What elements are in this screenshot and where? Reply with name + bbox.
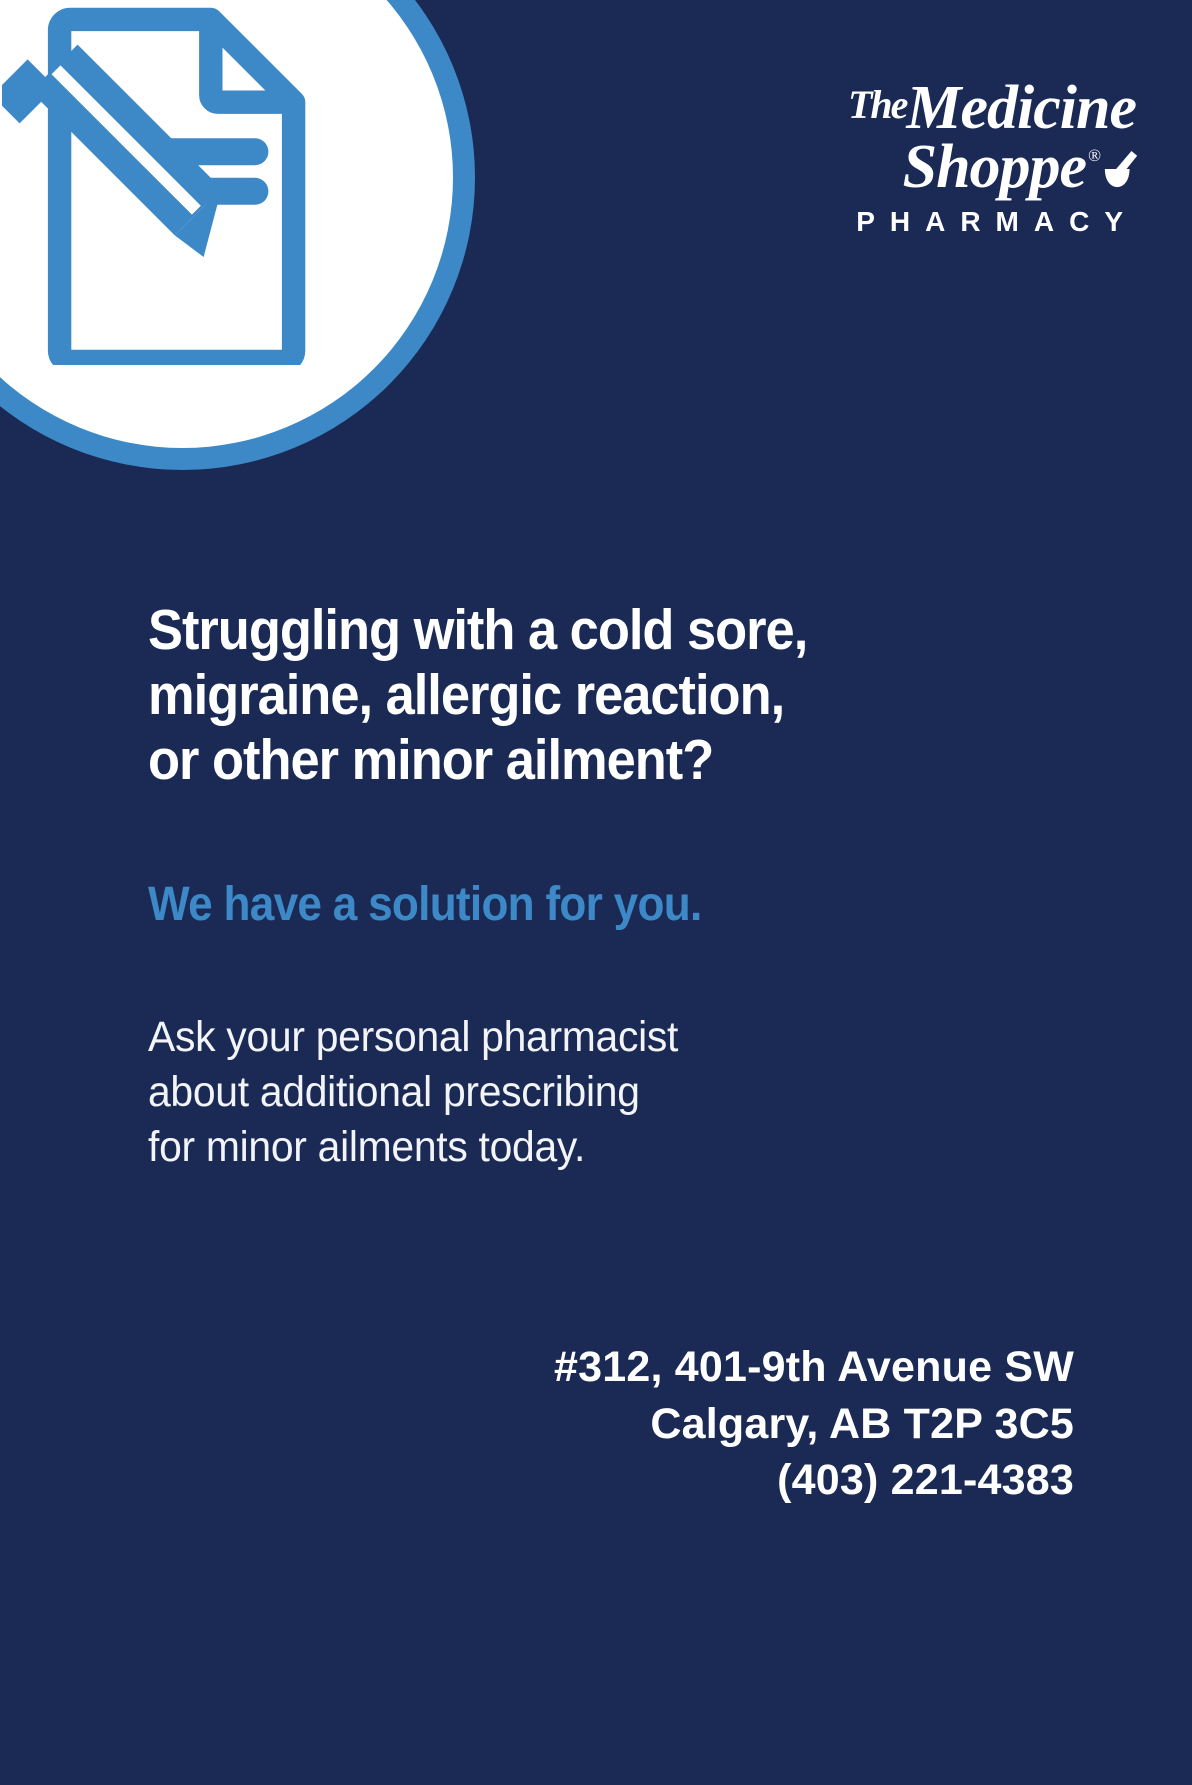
main-content: Struggling with a cold sore, migraine, a…: [148, 598, 1072, 1175]
brand-logo: TheMedicine Shoppe® PHARMACY: [720, 80, 1140, 238]
badge-circle: [0, 0, 475, 470]
body-line-1: Ask your personal pharmacist: [148, 1010, 1026, 1065]
body-paragraph: Ask your personal pharmacist about addit…: [148, 1010, 1026, 1175]
headline-line-1: Struggling with a cold sore,: [148, 598, 998, 663]
body-line-2: about additional prescribing: [148, 1065, 1026, 1120]
mortar-and-pestle-icon: [1102, 149, 1140, 191]
address-phone[interactable]: (403) 221-4383: [554, 1452, 1074, 1509]
registered-trademark-icon: ®: [1088, 146, 1100, 165]
logo-line-shoppe: Shoppe®: [903, 139, 1140, 196]
poster-canvas: TheMedicine Shoppe® PHARMACY Struggling …: [0, 0, 1192, 1785]
document-with-pencil-icon: [2, 5, 362, 365]
address-street: #312, 401-9th Avenue SW: [554, 1339, 1074, 1396]
logo-line-medicine: TheMedicine: [720, 80, 1140, 137]
logo-tagline-pharmacy: PHARMACY: [720, 206, 1140, 238]
body-line-3: for minor ailments today.: [148, 1120, 1026, 1175]
headline-line-3: or other minor ailment?: [148, 728, 998, 793]
headline-line-2: migraine, allergic reaction,: [148, 663, 998, 728]
logo-word-medicine: Medicine: [906, 74, 1136, 142]
logo-word-the: The: [848, 82, 906, 127]
logo-word-shoppe: Shoppe: [903, 133, 1086, 201]
store-address-block: #312, 401-9th Avenue SW Calgary, AB T2P …: [554, 1339, 1074, 1509]
subheadline: We have a solution for you.: [148, 879, 998, 932]
address-city-postal: Calgary, AB T2P 3C5: [554, 1396, 1074, 1453]
headline: Struggling with a cold sore, migraine, a…: [148, 598, 998, 793]
